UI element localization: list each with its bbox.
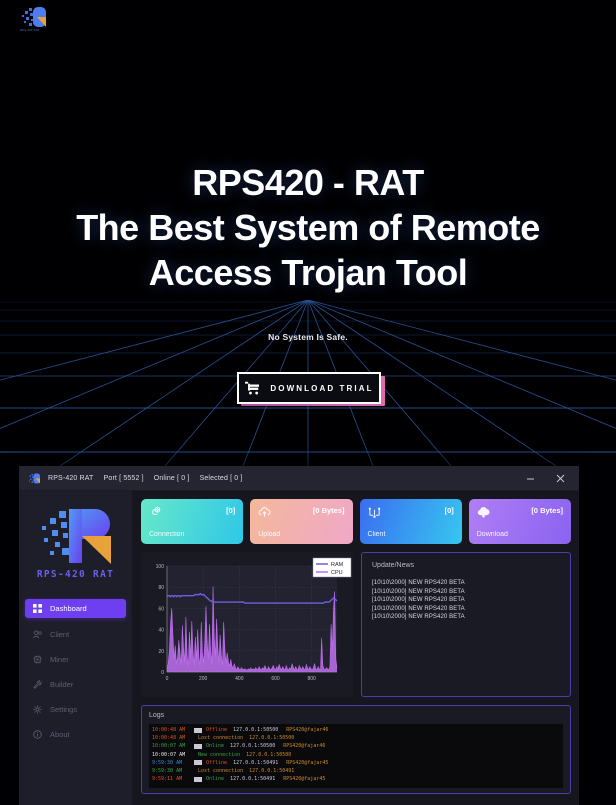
chart-y-tick-label: 40 — [158, 628, 164, 634]
log-event: Lost connection — [198, 734, 243, 742]
card-top: [0 Bytes] — [258, 506, 344, 519]
sidebar-logo-icon — [39, 505, 113, 567]
titlebar-text: RPS-420 RAT Port [ 5552 ] Online [ 0 ] S… — [48, 475, 251, 482]
dashboard-row: 0204060801000200400600800RAMCPU Update/N… — [141, 552, 571, 697]
sidebar-item-settings[interactable]: Settings — [25, 700, 126, 718]
titlebar-selected: Selected [ 0 ] — [200, 475, 243, 482]
card-top: [0 Bytes] — [477, 506, 563, 519]
page-title: RPS420 - RAT The Best System of Remote A… — [0, 160, 616, 295]
sidebar-item-label: Dashboard — [50, 604, 87, 613]
log-row[interactable]: 9:59:11 AMOnline127.0.0.1:50491RPS420@fa… — [152, 775, 560, 783]
download-trial-label: DOWNLOAD TRIAL — [270, 384, 373, 393]
log-ip-address: 127.0.0.1:50491 — [230, 775, 275, 783]
chart-legend-label: CPU — [331, 570, 343, 576]
news-title: Update/News — [372, 562, 560, 569]
log-row[interactable]: 10:00:48 AMLost connection127.0.0.1:5050… — [152, 734, 560, 742]
hero-line-2: The Best System of Remote — [0, 205, 616, 250]
chart-x-tick-label: 200 — [199, 676, 208, 682]
chip-icon — [33, 655, 42, 664]
wrench-icon — [33, 680, 42, 689]
info-icon — [33, 730, 42, 739]
main-content: [0] Connection [0 Bytes] Upload — [133, 491, 579, 805]
log-ip-address: 127.0.0.1:50491 — [233, 759, 278, 767]
rps420-pixel-logo-icon — [20, 5, 48, 29]
stat-card-download[interactable]: [0 Bytes] Download — [469, 499, 571, 544]
log-status-chip-icon — [194, 777, 202, 782]
log-username: RPS420@fajar45 — [286, 759, 328, 767]
chart-x-tick-label: 400 — [235, 676, 244, 682]
logs-panel: Logs 10:00:48 AMOffline127.0.0.1:50500RP… — [141, 705, 571, 794]
stat-card-connection[interactable]: [0] Connection — [141, 499, 243, 544]
log-timestamp: 10:00:48 AM — [152, 726, 190, 734]
shopping-cart-icon — [244, 381, 260, 395]
log-event: Online — [206, 775, 224, 783]
cloud-download-icon — [477, 506, 490, 519]
gear-icon — [33, 705, 42, 714]
sidebar-item-miner[interactable]: Miner — [25, 650, 126, 668]
log-ip-address: 127.0.0.1:50500 — [233, 726, 278, 734]
card-label: Client — [368, 531, 386, 538]
update-news-panel: Update/News [10\10\2000] NEW RPS420 BETA… — [361, 552, 571, 697]
log-timestamp: 9:59:30 AM — [152, 767, 190, 775]
download-trial-wrapper: DOWNLOAD TRIAL — [237, 372, 385, 406]
log-ip-address: 127.0.0.1:50491 — [249, 767, 294, 775]
log-ip-address: 127.0.0.1:50500 — [249, 734, 294, 742]
news-entry: [10\10\2000] NEW RPS420 BETA — [372, 605, 560, 614]
log-event: Offline — [206, 726, 227, 734]
log-event: Offline — [206, 759, 227, 767]
chart-legend-label: RAM — [331, 562, 344, 568]
hero-line-1: RPS420 - RAT — [0, 160, 616, 205]
stat-card-client[interactable]: [0] Client — [360, 499, 462, 544]
logs-list[interactable]: 10:00:48 AMOffline127.0.0.1:50500RPS420@… — [149, 724, 563, 788]
hero-line-3: Access Trojan Tool — [0, 250, 616, 295]
chart-y-tick-label: 80 — [158, 585, 164, 591]
titlebar-port: Port [ 5552 ] — [104, 475, 144, 482]
log-username: RPS420@fajar46 — [286, 726, 328, 734]
log-event: New connection — [198, 751, 240, 759]
plug-icon — [149, 506, 162, 519]
card-value: [0] — [445, 506, 454, 515]
chart-x-tick-label: 600 — [271, 676, 280, 682]
sidebar-item-dashboard[interactable]: Dashboard — [25, 599, 126, 618]
news-entry: [10\10\2000] NEW RPS420 BETA — [372, 613, 560, 622]
log-username: RPS420@fajar46 — [283, 742, 325, 750]
users-icon — [33, 630, 42, 639]
log-row[interactable]: 10:00:07 AMOnline127.0.0.1:50500RPS420@f… — [152, 742, 560, 750]
log-timestamp: 10:00:48 AM — [152, 734, 190, 742]
performance-chart[interactable]: 0204060801000200400600800RAMCPU — [141, 552, 353, 697]
app-body: RPS-420 RAT Dashboard — [19, 491, 579, 805]
titlebar-online: Online [ 0 ] — [154, 475, 190, 482]
network-icon — [368, 506, 381, 519]
log-event: Lost connection — [198, 767, 243, 775]
log-timestamp: 9:59:11 AM — [152, 775, 190, 783]
site-logo-caption: RPS-420 RAT — [20, 29, 60, 32]
log-row[interactable]: 10:00:48 AMOffline127.0.0.1:50500RPS420@… — [152, 726, 560, 734]
sidebar-item-label: Client — [50, 630, 69, 639]
log-timestamp: 10:00:07 AM — [152, 751, 190, 759]
news-list: [10\10\2000] NEW RPS420 BETA[10\10\2000]… — [372, 579, 560, 622]
news-entry: [10\10\2000] NEW RPS420 BETA — [372, 596, 560, 605]
close-button[interactable] — [545, 466, 575, 491]
sidebar-brand: RPS-420 RAT — [19, 569, 132, 580]
sidebar-item-label: About — [50, 730, 70, 739]
chart-x-tick-label: 0 — [166, 676, 169, 682]
news-entry: [10\10\2000] NEW RPS420 BETA — [372, 588, 560, 597]
cloud-upload-icon — [258, 506, 271, 519]
app-window: RPS-420 RAT Port [ 5552 ] Online [ 0 ] S… — [19, 466, 579, 805]
card-label: Upload — [258, 531, 280, 538]
sidebar-item-builder[interactable]: Builder — [25, 675, 126, 693]
window-titlebar[interactable]: RPS-420 RAT Port [ 5552 ] Online [ 0 ] S… — [19, 466, 579, 491]
close-icon — [556, 474, 565, 483]
chart-svg: 0204060801000200400600800RAMCPU — [141, 552, 353, 697]
card-top: [0] — [368, 506, 454, 519]
hero-section: RPS-420 RAT RPS420 - RAT The Best System… — [0, 0, 616, 466]
download-trial-button[interactable]: DOWNLOAD TRIAL — [237, 372, 381, 404]
stat-card-upload[interactable]: [0 Bytes] Upload — [250, 499, 352, 544]
minimize-button[interactable] — [515, 466, 545, 491]
chart-y-tick-label: 60 — [158, 606, 164, 612]
chart-y-tick-label: 0 — [161, 670, 164, 676]
log-timestamp: 10:00:07 AM — [152, 742, 190, 750]
hero-subtitle: No System Is Safe. — [0, 332, 616, 342]
log-ip-address: 127.0.0.1:50500 — [246, 751, 291, 759]
log-status-chip-icon — [194, 744, 202, 749]
log-ip-address: 127.0.0.1:50500 — [230, 742, 275, 750]
news-entry: [10\10\2000] NEW RPS420 BETA — [372, 579, 560, 588]
log-timestamp: 9:59:30 AM — [152, 759, 190, 767]
log-event: Online — [206, 742, 224, 750]
stat-cards: [0] Connection [0 Bytes] Upload — [141, 499, 571, 544]
titlebar-app-name: RPS-420 RAT — [48, 475, 93, 482]
log-status-chip-icon — [194, 728, 202, 733]
chart-x-tick-label: 800 — [308, 676, 317, 682]
card-label: Connection — [149, 531, 184, 538]
sidebar-item-client[interactable]: Client — [25, 625, 126, 643]
sidebar: RPS-420 RAT Dashboard — [19, 491, 133, 805]
card-value: [0 Bytes] — [531, 506, 563, 515]
sidebar-item-label: Builder — [50, 680, 73, 689]
page-root: RPS-420 RAT RPS420 - RAT The Best System… — [0, 0, 616, 805]
log-status-chip-icon — [194, 760, 202, 765]
log-row[interactable]: 9:59:30 AMOffline127.0.0.1:50491RPS420@f… — [152, 759, 560, 767]
minimize-icon — [526, 474, 535, 483]
log-username: RPS420@fajar45 — [283, 775, 325, 783]
site-logo[interactable]: RPS-420 RAT — [20, 5, 48, 31]
sidebar-item-about[interactable]: About — [25, 725, 126, 743]
log-row[interactable]: 9:59:30 AMLost connection127.0.0.1:50491 — [152, 767, 560, 775]
card-top: [0] — [149, 506, 235, 519]
sidebar-item-label: Miner — [50, 655, 69, 664]
card-value: [0] — [226, 506, 235, 515]
card-value: [0 Bytes] — [313, 506, 345, 515]
grid-icon — [33, 604, 42, 613]
chart-y-tick-label: 20 — [158, 649, 164, 655]
chart-y-tick-label: 100 — [156, 564, 165, 570]
sidebar-item-label: Settings — [50, 705, 77, 714]
log-row[interactable]: 10:00:07 AMNew connection127.0.0.1:50500 — [152, 751, 560, 759]
titlebar-app-icon — [27, 472, 41, 485]
logs-title: Logs — [149, 712, 563, 719]
card-label: Download — [477, 531, 508, 538]
